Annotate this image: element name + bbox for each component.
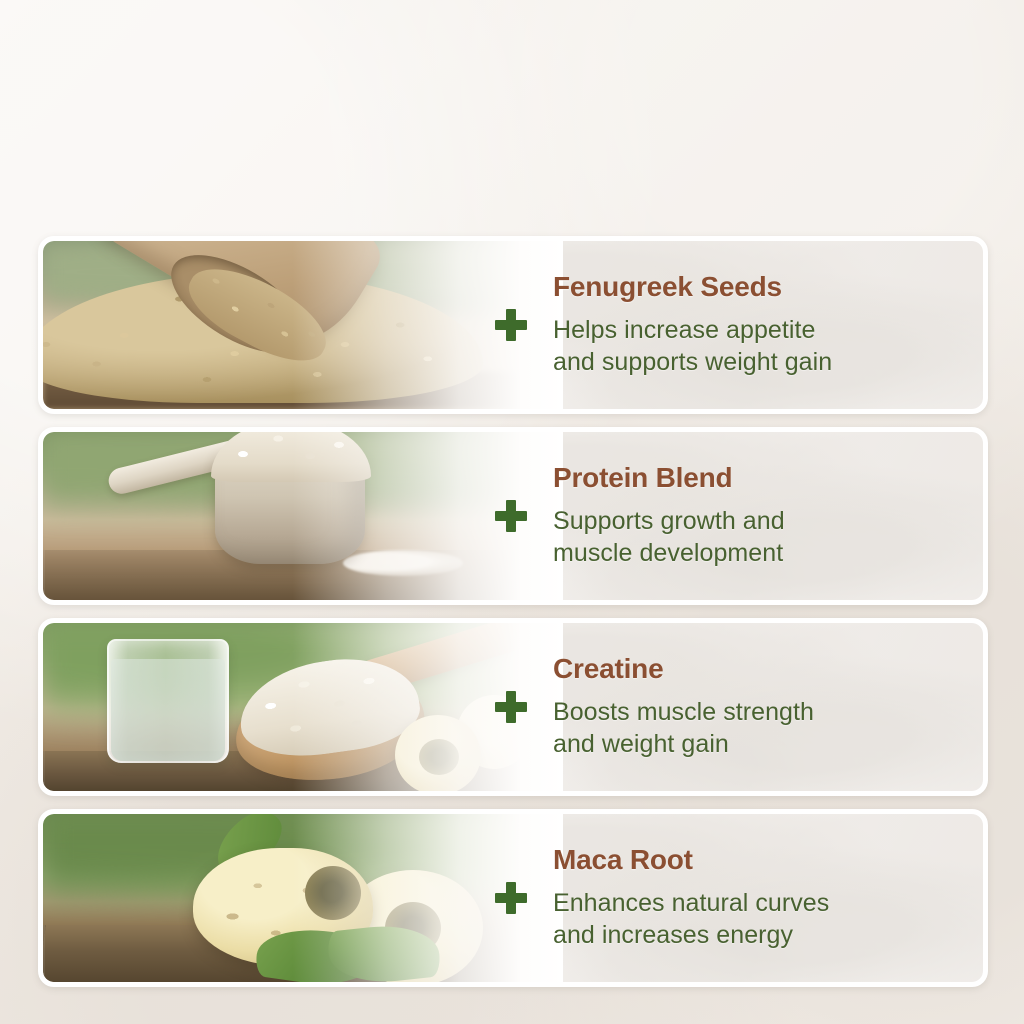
page-title-line-2: That Help You Gain Curves Fast — [0, 85, 1024, 140]
card-description-line-1: Helps increase appetite — [553, 314, 832, 346]
card-inner: Maca Root Enhances natural curves and in… — [43, 814, 983, 982]
plus-icon — [495, 500, 527, 532]
ingredient-card-list: Fenugreek Seeds Helps increase appetite … — [38, 236, 988, 1000]
photo-fade-overlay — [43, 432, 563, 600]
card-description-line-2: muscle development — [553, 537, 785, 569]
card-description-line-2: and weight gain — [553, 728, 814, 760]
card-title: Fenugreek Seeds — [553, 272, 832, 303]
page-subtitle: Scientifically selected ingredients for … — [0, 158, 1024, 186]
card-photo-fenugreek-seeds — [43, 241, 563, 409]
ingredient-card-creatine[interactable]: Creatine Boosts muscle strength and weig… — [38, 618, 988, 796]
card-text-block: Fenugreek Seeds Helps increase appetite … — [495, 241, 983, 409]
card-text-block: Protein Blend Supports growth and muscle… — [495, 432, 983, 600]
ingredient-card-fenugreek-seeds[interactable]: Fenugreek Seeds Helps increase appetite … — [38, 236, 988, 414]
card-title: Creatine — [553, 654, 814, 685]
ingredient-card-maca-root[interactable]: Maca Root Enhances natural curves and in… — [38, 809, 988, 987]
card-photo-creatine — [43, 623, 563, 791]
card-title: Maca Root — [553, 845, 829, 876]
card-description-line-1: Boosts muscle strength — [553, 696, 814, 728]
card-description-line-1: Enhances natural curves — [553, 887, 829, 919]
page-title-line-1: Powerful Natural Ingredients — [0, 30, 1024, 85]
card-photo-maca-root — [43, 814, 563, 982]
photo-fade-overlay — [43, 623, 563, 791]
card-description-line-1: Supports growth and — [553, 505, 785, 537]
plus-icon — [495, 309, 527, 341]
card-inner: Protein Blend Supports growth and muscle… — [43, 432, 983, 600]
infographic-page: Powerful Natural Ingredients That Help Y… — [0, 0, 1024, 1024]
plus-icon — [495, 691, 527, 723]
card-description-line-2: and supports weight gain — [553, 346, 832, 378]
plus-icon — [495, 882, 527, 914]
card-inner: Fenugreek Seeds Helps increase appetite … — [43, 241, 983, 409]
card-photo-protein-blend — [43, 432, 563, 600]
photo-fade-overlay — [43, 814, 563, 982]
ingredient-card-protein-blend[interactable]: Protein Blend Supports growth and muscle… — [38, 427, 988, 605]
card-description-line-2: and increases energy — [553, 919, 829, 951]
header: Powerful Natural Ingredients That Help Y… — [0, 0, 1024, 186]
card-inner: Creatine Boosts muscle strength and weig… — [43, 623, 983, 791]
card-text-block: Creatine Boosts muscle strength and weig… — [495, 623, 983, 791]
card-text-block: Maca Root Enhances natural curves and in… — [495, 814, 983, 982]
card-title: Protein Blend — [553, 463, 785, 494]
photo-fade-overlay — [43, 241, 563, 409]
